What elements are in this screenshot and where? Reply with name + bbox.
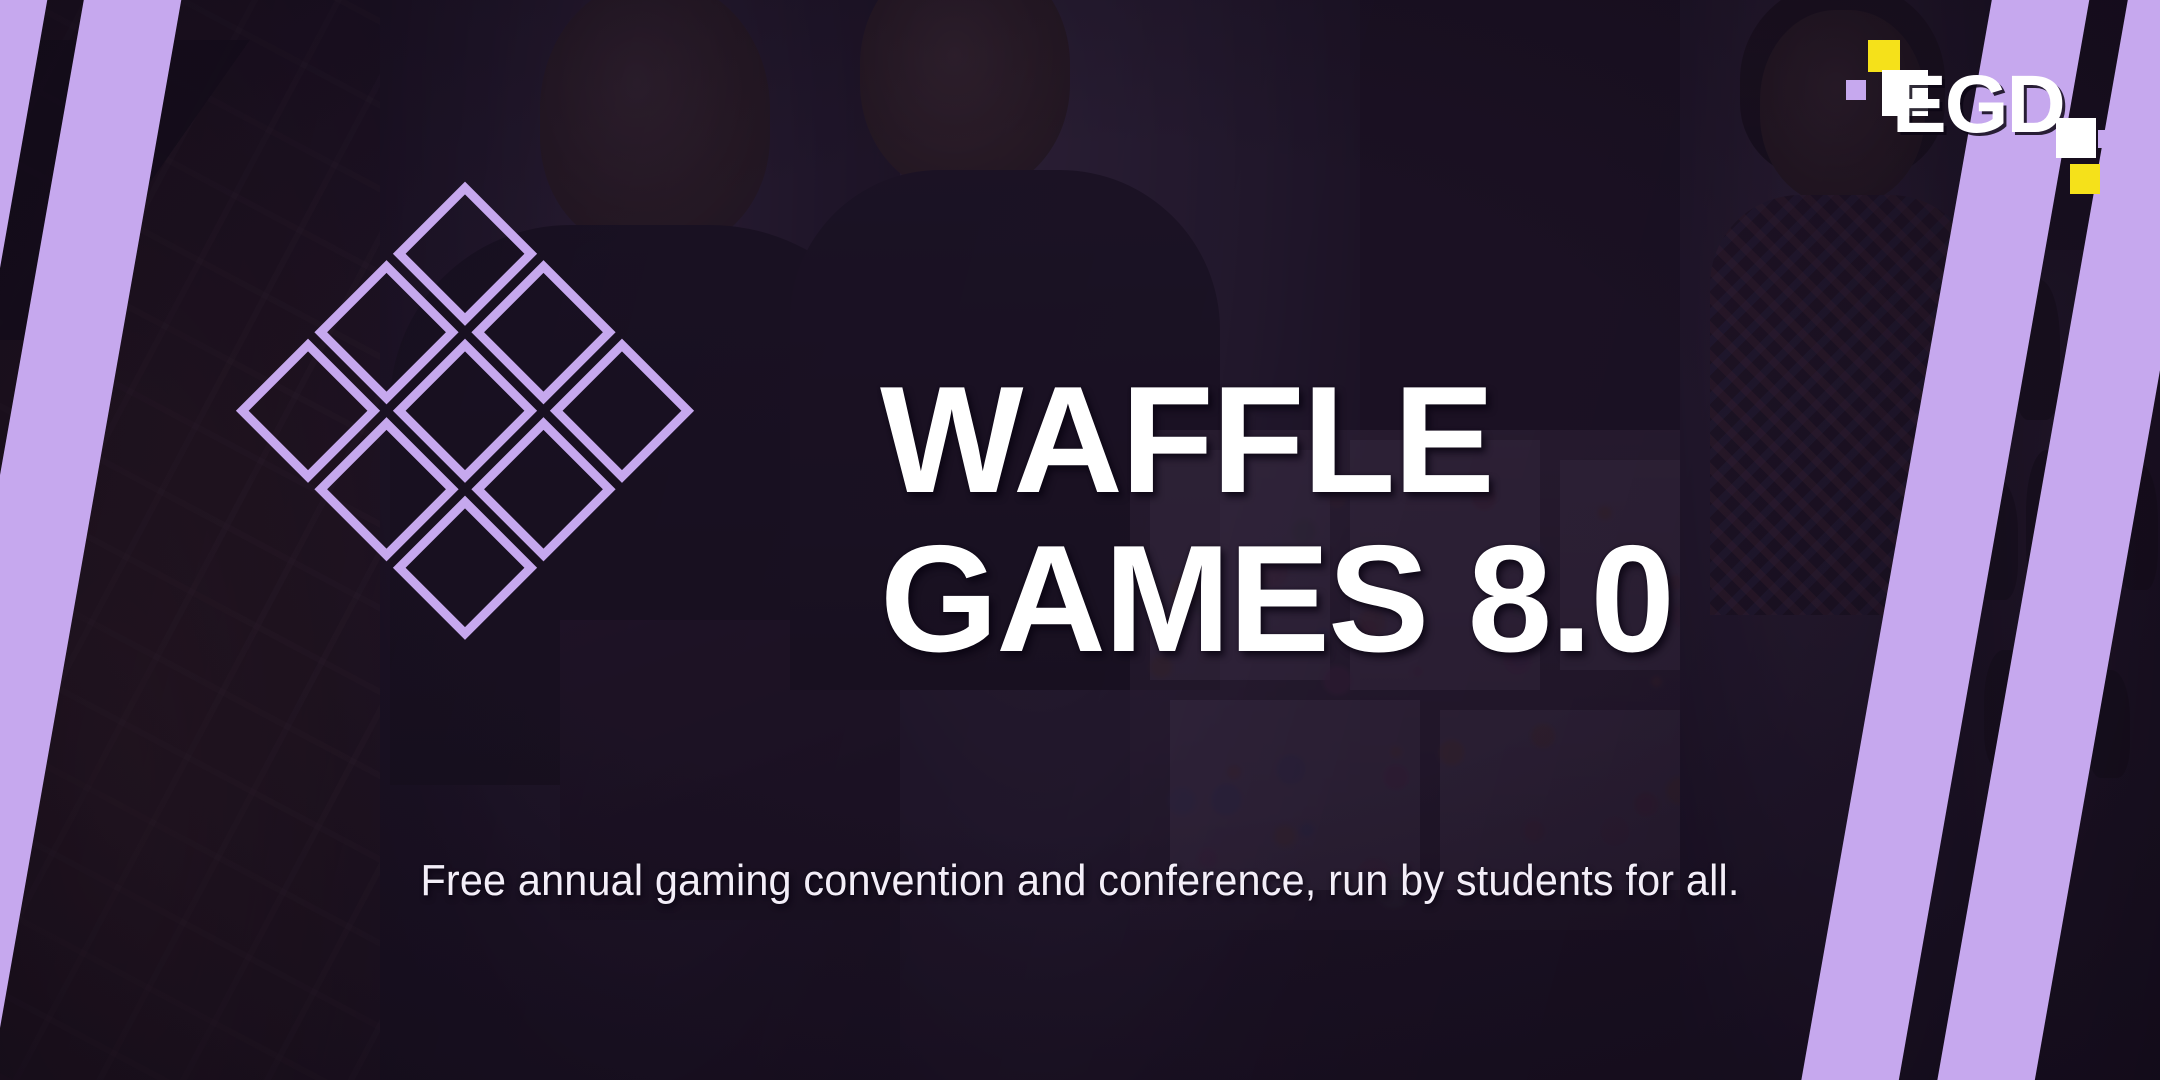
event-title-line-2: GAMES 8.0 — [880, 525, 2000, 674]
event-banner: WAFFLE GAMES 8.0 Free annual gaming conv… — [0, 0, 2160, 1080]
egd-brand-logo: EGD — [1858, 18, 2108, 158]
square-yellow-bottom-icon — [2070, 164, 2100, 194]
event-title: WAFFLE GAMES 8.0 — [880, 366, 2000, 674]
egd-wordmark: EGD — [1892, 64, 2064, 146]
square-white-bottom-icon — [2056, 118, 2096, 158]
square-purple-bottom-icon — [2098, 130, 2116, 148]
event-tagline: Free annual gaming convention and confer… — [65, 856, 2095, 906]
square-purple-top-icon — [1846, 80, 1866, 100]
event-title-line-1: WAFFLE — [880, 366, 2000, 515]
